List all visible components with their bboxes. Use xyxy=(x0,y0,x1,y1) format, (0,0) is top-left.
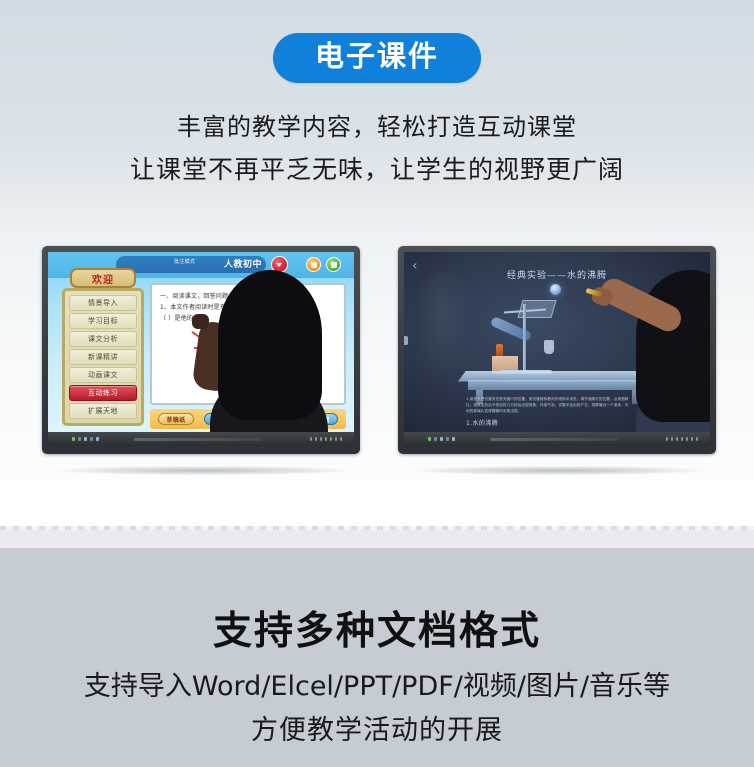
right-panel-chin xyxy=(404,432,710,446)
speaker-grille xyxy=(310,437,343,441)
menu-item-scene-intro[interactable]: 情景导入 xyxy=(69,295,137,311)
menu-item-lecture[interactable]: 新课精讲 xyxy=(69,349,137,365)
caret-down-circle-icon[interactable] xyxy=(271,256,288,273)
courseware-button-bar: 草稿纸 答案 下一题 xyxy=(150,409,346,429)
scratch-paper-button[interactable]: 草稿纸 xyxy=(158,413,194,425)
courseware-menu: 情景导入 学习目标 课文分析 新课精讲 动画课文 互动练习 扩展天地 xyxy=(62,288,144,426)
student-hair xyxy=(636,270,710,422)
hero-subtitle-line-1: 丰富的教学内容，轻松打造互动课堂 xyxy=(0,110,754,145)
experiment-app: ‹ 经典实验——水的沸腾 1.用铁夹把试管夹在 xyxy=(404,252,710,432)
right-tablet-shadow xyxy=(414,466,704,475)
publisher-label: 人教初中 xyxy=(224,257,262,270)
menu-item-exercise[interactable]: 互动练习 xyxy=(69,385,137,401)
separator-ticks xyxy=(0,526,754,530)
hero-section: 电子课件 丰富的教学内容，轻松打造互动课堂 让课堂不再平乏无味，让学生的视野更广… xyxy=(0,0,754,230)
menu-item-extension[interactable]: 扩展天地 xyxy=(69,403,137,419)
formats-subtitle-2: 方便教学活动的开展 xyxy=(0,708,754,747)
brand-strip xyxy=(490,438,618,441)
left-tablet-shadow xyxy=(58,466,348,475)
right-interactive-panel: ‹ 经典实验——水的沸腾 1.用铁夹把试管夹在 xyxy=(398,246,716,454)
port-indicators xyxy=(428,437,455,441)
menu-item-text-analysis[interactable]: 课文分析 xyxy=(69,331,137,347)
student-arm xyxy=(597,274,686,335)
document-line-1: 一、阅读课文，回答问题。 xyxy=(160,291,234,300)
handwriting-annotation xyxy=(192,331,220,351)
hero-badge-wrap: 电子课件 xyxy=(0,33,754,83)
experiment-title: 经典实验——水的沸腾 xyxy=(404,268,710,281)
next-question-button[interactable]: 下一题 xyxy=(302,413,338,425)
section-title-badge: 电子课件 xyxy=(273,33,481,83)
side-tab-handle[interactable] xyxy=(404,336,408,345)
speaker-grille xyxy=(666,437,699,441)
menu-item-animation[interactable]: 动画课文 xyxy=(69,367,137,383)
welcome-plate-label: 欢迎 xyxy=(92,271,114,286)
document-line-2: 1、本文作者阅读时是东部时分 xyxy=(160,302,245,311)
left-interactive-panel: ✦ ✦ ✧ 批注模式 人教初中 欢迎 情景导 xyxy=(42,246,360,454)
student-collar xyxy=(702,386,710,414)
lesson-document: 一、阅读课文，回答问题。 1、本文作者阅读时是东部时分 （ ）是他的 xyxy=(150,283,346,405)
hero-subtitle-line-2: 让课堂不再平乏无味，让学生的视野更广阔 xyxy=(0,151,754,189)
student-shirt xyxy=(636,382,710,432)
formats-subtitle-1: 支持导入Word/Elcel/PPT/PDF/视频/图片/音乐等 xyxy=(0,664,754,703)
answer-button[interactable]: 答案 xyxy=(204,413,240,425)
devices-section: ✦ ✦ ✧ 批注模式 人教初中 欢迎 情景导 xyxy=(0,230,754,526)
courseware-app: ✦ ✦ ✧ 批注模式 人教初中 欢迎 情景导 xyxy=(48,252,354,432)
experiment-subcaption: 1.水的沸腾 xyxy=(466,418,498,427)
background-shadow xyxy=(414,272,472,376)
formats-section: 支持多种文档格式 支持导入Word/Elcel/PPT/PDF/视频/图片/音乐… xyxy=(0,548,754,767)
lab-table-front xyxy=(468,380,646,390)
port-indicators xyxy=(72,437,99,441)
brand-strip xyxy=(134,438,262,441)
document-line-3: （ ）是他的 xyxy=(160,313,193,322)
light-source-icon xyxy=(550,284,561,295)
menu-item-objectives[interactable]: 学习目标 xyxy=(69,313,137,329)
stylus-pen-icon xyxy=(586,288,603,297)
experiment-caption: 1.用铁夹把试管夹在铁夹管口的位置，使试管倾斜着向外倾斜半米处，调节酒精灯的位置… xyxy=(466,396,630,414)
welcome-plate: 欢迎 xyxy=(70,268,136,288)
promo-page: 电子课件 丰富的教学内容，轻松打造互动课堂 让课堂不再平乏无味，让学生的视野更广… xyxy=(0,0,754,767)
right-panel-screen: ‹ 经典实验——水的沸腾 1.用铁夹把试管夹在 xyxy=(404,252,710,432)
annotate-mode-label[interactable]: 批注模式 xyxy=(174,258,195,265)
formats-heading: 支持多种文档格式 xyxy=(0,600,754,656)
hero-subtitles: 丰富的教学内容，轻松打造互动课堂 让课堂不再平乏无味，让学生的视野更广阔 xyxy=(0,110,754,188)
sound-circle-icon[interactable] xyxy=(326,257,341,272)
left-panel-screen: ✦ ✦ ✧ 批注模式 人教初中 欢迎 情景导 xyxy=(48,252,354,432)
left-panel-chin xyxy=(48,432,354,446)
student-hand xyxy=(590,285,614,307)
small-flask xyxy=(544,340,554,354)
download-circle-icon[interactable] xyxy=(306,257,321,272)
lab-table-leg xyxy=(632,390,639,404)
